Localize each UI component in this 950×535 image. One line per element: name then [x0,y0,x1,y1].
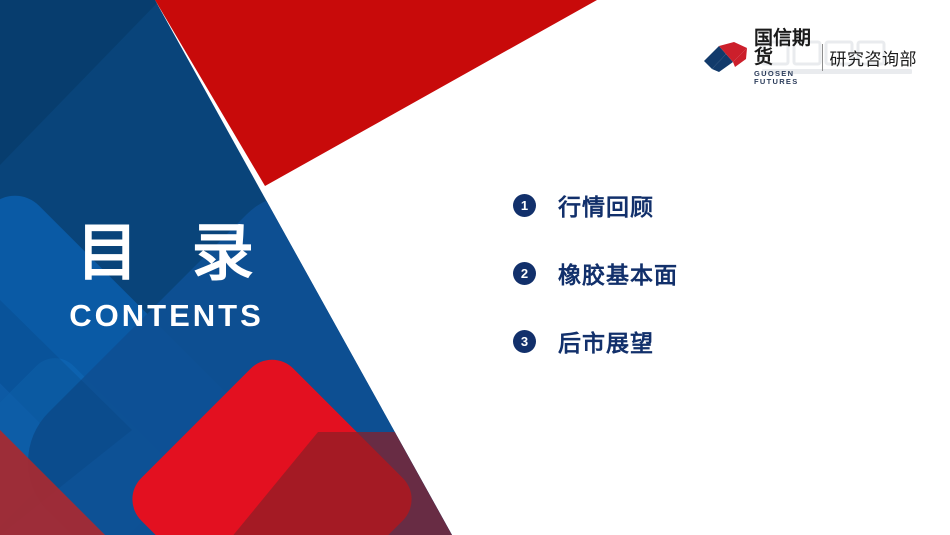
guosen-logo-mark [702,42,748,72]
contents-label-1: 行情回顾 [558,188,654,222]
logo-divider [822,44,823,71]
red-muted-band-right [180,432,500,535]
red-triangle-top [155,0,597,186]
logo-name-en: GUOSEN FUTURES [754,70,814,85]
page-title: 目 录 CONTENTS [0,222,330,334]
slide-canvas: 目 录 CONTENTS 国信期货 GUOSEN FUTURES [0,0,950,535]
contents-label-2: 橡胶基本面 [558,256,678,290]
red-muted-band-lower [0,430,230,535]
contents-number-badge-1: 1 [513,194,536,217]
logo-name-cn: 国信期货 [754,29,814,67]
red-muted-band-left [0,410,170,535]
contents-number-badge-2: 2 [513,262,536,285]
contents-number-badge-3: 3 [513,330,536,353]
contents-item-1[interactable]: 1 行情回顾 [513,190,893,220]
brand-logo: 国信期货 GUOSEN FUTURES 研究咨询部 [702,33,917,81]
red-rounded-shape [120,347,424,535]
contents-label-3: 后市展望 [558,324,654,358]
logo-wordmark: 国信期货 GUOSEN FUTURES [754,29,814,85]
contents-item-2[interactable]: 2 橡胶基本面 [513,258,893,288]
title-english: CONTENTS [0,298,330,334]
contents-list: 1 行情回顾 2 橡胶基本面 3 后市展望 [513,190,893,356]
title-chinese: 目 录 [0,222,330,284]
contents-item-3[interactable]: 3 后市展望 [513,326,893,356]
department-label: 研究咨询部 [830,45,918,70]
